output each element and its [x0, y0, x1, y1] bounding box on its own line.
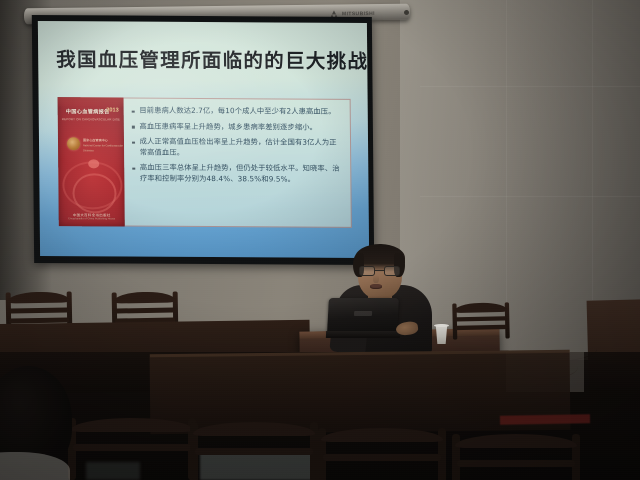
bullet-marker-icon [132, 141, 135, 144]
chair-slat [455, 325, 507, 330]
glasses-icon [358, 266, 402, 277]
projection-screen: 我国血压管理所面临的的巨大挑战 中国心血管病报告 2013 REPORT ON … [32, 15, 374, 265]
book-swirl-decor [72, 173, 116, 213]
book-cover-image: 中国心血管病报告 2013 REPORT ON CARDIOVASCULAR D… [58, 97, 125, 226]
glasses-bridge [375, 270, 384, 271]
slide-title: 我国血压管理所面临的的巨大挑战 [56, 43, 356, 74]
book-publisher: 中国大百科全书出版社 Encyclopedia of China Publish… [59, 212, 125, 220]
bullet-marker-icon [132, 110, 135, 113]
slide-content-box: 中国心血管病报告 2013 REPORT ON CARDIOVASCULAR D… [58, 97, 352, 228]
book-publisher-en: Encyclopedia of China Publishing House [59, 217, 125, 220]
chair-slat [323, 454, 441, 461]
wall-seam-horizontal [420, 196, 640, 197]
chair-slat [9, 307, 69, 313]
chair-crest [321, 428, 443, 442]
slide-bullet-item: 成人正常高值血压检出率呈上升趋势，估计全国有3亿人为正常高值血压。 [132, 137, 344, 159]
front-chair [318, 428, 446, 480]
chair-crest [114, 291, 176, 303]
chair-slat [195, 448, 313, 455]
chair-crest [8, 291, 70, 303]
bullet-marker-icon [132, 167, 135, 170]
glasses-lens-right [384, 266, 400, 276]
presenter-mouth [370, 284, 382, 289]
laptop-logo-icon [354, 311, 372, 316]
laptop-lid [327, 298, 399, 332]
bullet-marker-icon [132, 126, 135, 129]
wall-seam-vertical [506, 0, 507, 330]
chair-slat [457, 460, 575, 467]
chair-crest [454, 302, 508, 313]
chair-behind-presenter [452, 302, 510, 339]
chair-slat [455, 316, 507, 321]
wall-seam-horizontal [420, 86, 640, 87]
chair-crest [71, 418, 193, 432]
slide-bullet-item: 高血压患病率呈上升趋势，城乡患病率差别逐步缩小。 [132, 121, 344, 133]
bullet-text: 高血压三率总体呈上升趋势，但仍处于较低水平。知晓率、治疗率和控制率分别为48.4… [140, 163, 345, 185]
book-dot-decor [88, 159, 99, 168]
bullet-text: 目前患病人数达2.7亿，每10个成人中至少有2人患高血压。 [139, 106, 335, 118]
front-chair [190, 422, 318, 480]
book-org-en: National Center for Cardiovascular Disea… [83, 144, 123, 152]
slide-bullet-panel: 目前患病人数达2.7亿，每10个成人中至少有2人患高血压。 高血压患病率呈上升趋… [124, 98, 352, 228]
chair-slat [73, 444, 191, 451]
chair-slat [115, 307, 175, 313]
slide-bullet-item: 目前患病人数达2.7亿，每10个成人中至少有2人患高血压。 [132, 106, 344, 118]
book-title: 中国心血管病报告 [66, 108, 110, 115]
slide-bullet-item: 高血压三率总体呈上升趋势，但仍处于较低水平。知晓率、治疗率和控制率分别为48.4… [132, 163, 344, 185]
book-organization: 国家心血管病中心 National Center for Cardiovascu… [83, 138, 124, 153]
book-org-cn: 国家心血管病中心 [83, 138, 108, 142]
book-subtitle: REPORT ON CARDIOVASCULAR DISEASES IN CHI… [62, 117, 120, 121]
wall-seam-vertical [592, 0, 593, 300]
book-top-band [58, 97, 124, 107]
laptop-base [326, 331, 400, 338]
chair-crest [455, 434, 577, 448]
chair-crest [193, 422, 315, 436]
screen-casing-knob [404, 10, 409, 15]
book-year: 2013 [106, 107, 119, 113]
front-chair [68, 418, 196, 480]
front-chair [452, 434, 580, 480]
book-emblem-icon [67, 137, 80, 150]
bullet-text: 高血压患病率呈上升趋势，城乡患病率差别逐步缩小。 [139, 121, 317, 133]
slide-surface: 我国血压管理所面临的的巨大挑战 中国心血管病报告 2013 REPORT ON … [38, 21, 369, 258]
laptop [326, 298, 400, 338]
glasses-lens-left [359, 266, 375, 276]
foreground-red-strip [500, 414, 590, 425]
bullet-text: 成人正常高值血压检出率呈上升趋势，估计全国有3亿人为正常高值血压。 [140, 137, 345, 159]
lecture-hall-photo: MITSUBISHI 我国血压管理所面临的的巨大挑战 中国心血管病报告 2013… [0, 0, 640, 480]
